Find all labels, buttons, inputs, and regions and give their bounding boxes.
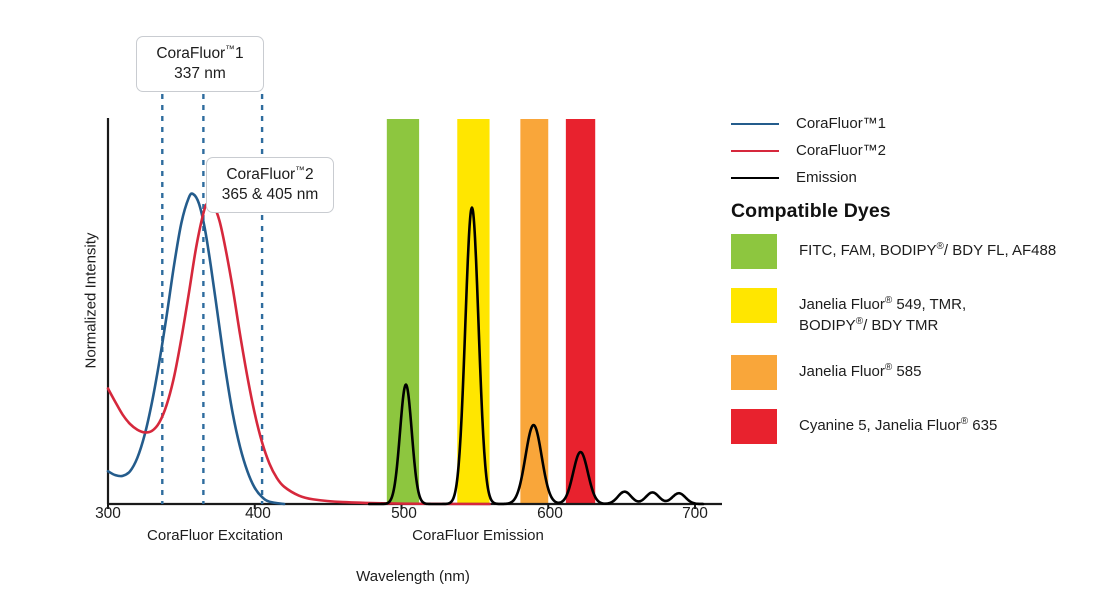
legend-line-swatch-emission [731,177,779,179]
callout-corafluor-2: CoraFluor™2 365 & 405 nm [206,157,334,213]
callout-cf1-line1: CoraFluor™1 [156,45,243,62]
emission-band-orange [520,119,548,504]
curve-corafluor-2 [108,202,490,504]
series-legend: CoraFluor™1 CoraFluor™2 Emission [731,110,1091,191]
x-axis-title: Wavelength (nm) [313,568,513,585]
legend-item-corafluor-1: CoraFluor™1 [731,110,1091,137]
dye-color-swatch-green [731,234,777,269]
x-tick-300: 300 [78,505,138,523]
dye-label-yellow: Janelia Fluor® 549, TMR,BODIPY®/ BDY TMR [799,288,966,336]
callout-cf1-line2: 337 nm [149,64,251,83]
dye-row-green: FITC, FAM, BODIPY®/ BDY FL, AF488 [731,234,1101,269]
dye-label-orange: Janelia Fluor® 585 [799,355,921,382]
compatible-dyes-title: Compatible Dyes [731,200,891,223]
callout-corafluor-1: CoraFluor™1 337 nm [136,36,264,92]
legend-label-emission: Emission [796,169,857,186]
compatible-dyes-list: FITC, FAM, BODIPY®/ BDY FL, AF488 Janeli… [731,234,1101,463]
x-tick-400: 400 [228,505,288,523]
y-axis-title: Normalized Intensity [83,201,100,401]
legend-label-corafluor-1: CoraFluor™1 [796,115,886,132]
legend-label-corafluor-2: CoraFluor™2 [796,142,886,159]
curve-corafluor-1 [108,194,284,504]
dye-color-swatch-red [731,409,777,444]
legend-item-corafluor-2: CoraFluor™2 [731,137,1091,164]
sublabel-excitation: CoraFluor Excitation [115,527,315,544]
dye-color-swatch-yellow [731,288,777,323]
legend-item-emission: Emission [731,164,1091,191]
dye-row-yellow: Janelia Fluor® 549, TMR,BODIPY®/ BDY TMR [731,288,1101,336]
callout-cf2-line1: CoraFluor™2 [226,166,313,183]
legend-line-swatch-corafluor-1 [731,123,779,125]
legend-line-swatch-corafluor-2 [731,150,779,152]
emission-band-red [566,119,595,504]
dye-row-red: Cyanine 5, Janelia Fluor® 635 [731,409,1101,444]
dye-label-red: Cyanine 5, Janelia Fluor® 635 [799,409,997,436]
x-tick-600: 600 [520,505,580,523]
dye-label-green: FITC, FAM, BODIPY®/ BDY FL, AF488 [799,234,1056,261]
x-tick-500: 500 [374,505,434,523]
fluorescence-spectra-chart: CoraFluor™1 337 nm CoraFluor™2 365 & 405… [0,0,1110,612]
dye-row-orange: Janelia Fluor® 585 [731,355,1101,390]
callout-cf2-line2: 365 & 405 nm [219,185,321,204]
sublabel-emission: CoraFluor Emission [378,527,578,544]
x-tick-700: 700 [665,505,725,523]
dye-color-swatch-orange [731,355,777,390]
